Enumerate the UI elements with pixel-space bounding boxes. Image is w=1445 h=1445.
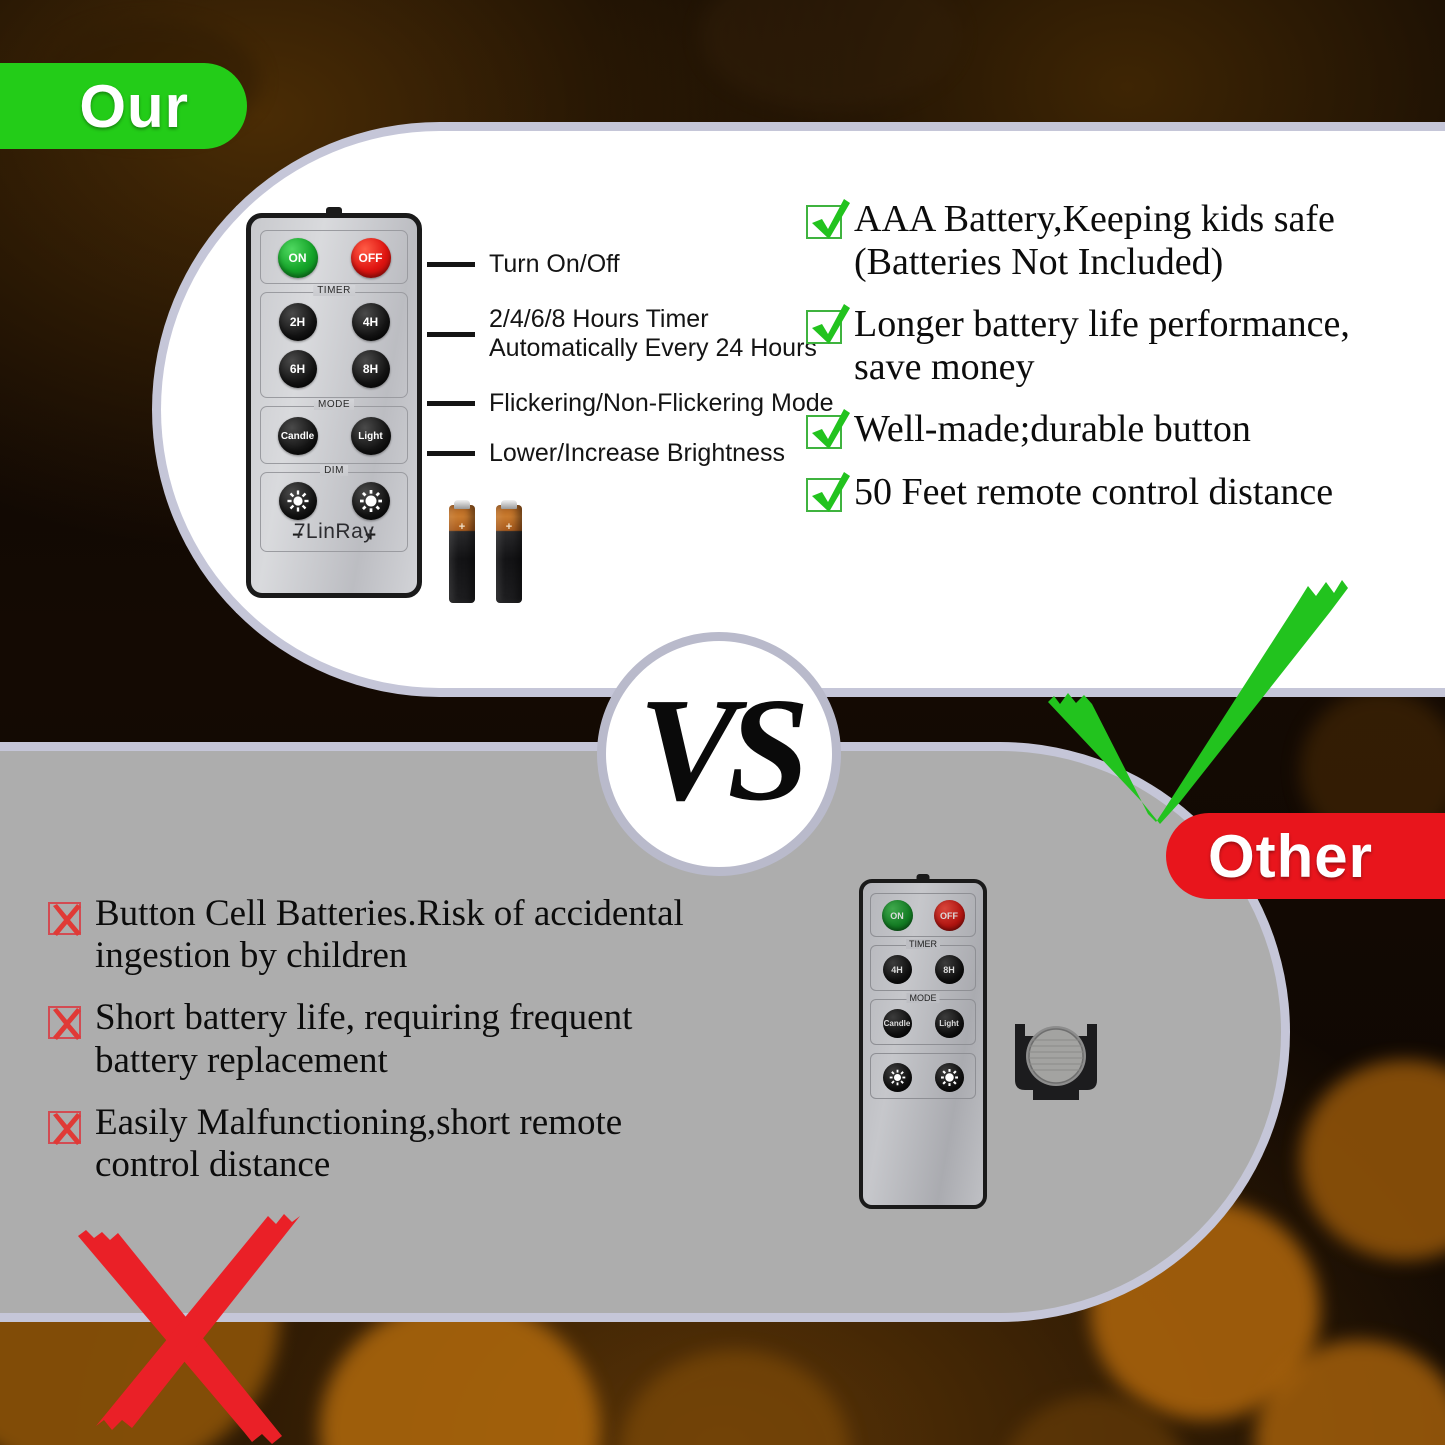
- other-remote-control: ON OFF TIMER 4H 8H MODE Candle Light: [859, 879, 987, 1209]
- feature-text: Well-made;durable button: [854, 408, 1251, 451]
- coin-cell-battery-holder: [1001, 1006, 1111, 1116]
- red-x-icon: [48, 1111, 85, 1148]
- checkbox-x-icon: [48, 902, 81, 935]
- feature-text: AAA Battery,Keeping kids safe (Batteries…: [854, 198, 1335, 283]
- our-badge-label: Our: [79, 72, 189, 141]
- off-button[interactable]: OFF: [351, 238, 391, 278]
- feature-item: AAA Battery,Keeping kids safe (Batteries…: [806, 198, 1431, 283]
- timer-6h-button[interactable]: 6H: [279, 350, 317, 388]
- dim-increase-button[interactable]: [352, 482, 390, 520]
- mode-button-group: MODE Candle Light: [260, 406, 408, 464]
- feature-text: 50 Feet remote control distance: [854, 471, 1333, 514]
- callout-timer: 2/4/6/8 Hours Timer Automatically Every …: [427, 305, 817, 364]
- sun-bright-icon: [360, 490, 382, 512]
- checkbox-checked-icon: [806, 478, 842, 512]
- feature-item: 50 Feet remote control distance: [806, 471, 1431, 514]
- ir-emitter-icon: [326, 207, 342, 214]
- dim-lower-button[interactable]: [279, 482, 317, 520]
- large-green-check-mark: [1030, 552, 1360, 852]
- timer-2h-button[interactable]: 2H: [279, 303, 317, 341]
- versus-label: VS: [638, 665, 799, 835]
- brush-check-icon: [1030, 552, 1360, 847]
- other-mode-group: MODE Candle Light: [870, 999, 976, 1045]
- callout-label: Lower/Increase Brightness: [489, 439, 785, 468]
- other-power-group: ON OFF: [870, 893, 976, 937]
- other-timer-group: TIMER 4H 8H: [870, 945, 976, 991]
- callout-leader-line: [427, 262, 475, 267]
- callout-turn-on-off: Turn On/Off: [427, 250, 620, 279]
- checkbox-checked-icon: [806, 205, 842, 239]
- battery-plus-label: +: [449, 521, 475, 533]
- button-cell-icon: [1001, 1006, 1111, 1116]
- sun-icon: [889, 1069, 906, 1086]
- other-dim-increase-button[interactable]: [935, 1063, 964, 1092]
- red-x-icon: [48, 902, 85, 939]
- mode-group-label: MODE: [314, 399, 354, 410]
- callout-label: Turn On/Off: [489, 250, 620, 279]
- remote-brand-label: 7LinRay: [251, 520, 417, 544]
- battery-plus-label: +: [496, 521, 522, 533]
- feature-text: Longer battery life performance, save mo…: [854, 303, 1350, 388]
- checkbox-checked-icon: [806, 310, 842, 344]
- brush-x-icon: [62, 1208, 362, 1445]
- timer-8h-button[interactable]: 8H: [352, 350, 390, 388]
- other-timer-4h-button[interactable]: 4H: [883, 955, 912, 984]
- timer-group-label: TIMER: [313, 285, 355, 296]
- drawback-text: Easily Malfunctioning,short remote contr…: [95, 1102, 622, 1186]
- other-on-button[interactable]: ON: [882, 900, 913, 931]
- callout-leader-line: [427, 401, 475, 406]
- other-timer-8h-button[interactable]: 8H: [935, 955, 964, 984]
- callout-brightness: Lower/Increase Brightness: [427, 439, 785, 468]
- our-badge: Our: [0, 63, 247, 149]
- other-drawback-list: Button Cell Batteries.Risk of accidental…: [48, 893, 768, 1206]
- our-remote-control: ON OFF TIMER 2H 4H 6H 8H MODE Candle Lig…: [246, 213, 422, 598]
- power-button-group: ON OFF: [260, 230, 408, 284]
- callout-leader-line: [427, 451, 475, 456]
- sun-icon: [287, 490, 309, 512]
- large-red-x-mark: [62, 1208, 362, 1445]
- dim-group-label: DIM: [320, 465, 348, 476]
- timer-4h-button[interactable]: 4H: [352, 303, 390, 341]
- callout-leader-line: [427, 332, 475, 337]
- drawback-text: Button Cell Batteries.Risk of accidental…: [95, 893, 684, 977]
- other-dim-lower-button[interactable]: [883, 1063, 912, 1092]
- checkbox-x-icon: [48, 1111, 81, 1144]
- drawback-text: Short battery life, requiring frequent b…: [95, 997, 632, 1081]
- sun-bright-icon: [941, 1069, 958, 1086]
- checkbox-checked-icon: [806, 415, 842, 449]
- aaa-battery-1: +: [449, 505, 475, 603]
- ir-emitter-icon: [917, 874, 930, 880]
- other-mode-group-label: MODE: [907, 993, 940, 1003]
- callout-label: 2/4/6/8 Hours Timer Automatically Every …: [489, 305, 817, 364]
- timer-button-group: TIMER 2H 4H 6H 8H: [260, 292, 408, 398]
- other-dim-group: [870, 1053, 976, 1099]
- other-timer-group-label: TIMER: [906, 939, 940, 949]
- our-feature-list: AAA Battery,Keeping kids safe (Batteries…: [806, 198, 1431, 533]
- drawback-item: Button Cell Batteries.Risk of accidental…: [48, 893, 768, 977]
- feature-item: Longer battery life performance, save mo…: [806, 303, 1431, 388]
- drawback-item: Easily Malfunctioning,short remote contr…: [48, 1102, 768, 1186]
- red-x-icon: [48, 1006, 85, 1043]
- comparison-infographic: ON OFF TIMER 2H 4H 6H 8H MODE Candle Lig…: [0, 0, 1445, 1445]
- light-mode-button[interactable]: Light: [351, 417, 391, 455]
- green-check-icon: [806, 195, 852, 247]
- other-candle-button[interactable]: Candle: [883, 1009, 912, 1038]
- drawback-item: Short battery life, requiring frequent b…: [48, 997, 768, 1081]
- green-check-icon: [806, 405, 852, 457]
- battery-cap-icon: [454, 500, 470, 509]
- callout-label: Flickering/Non-Flickering Mode: [489, 389, 834, 418]
- checkbox-x-icon: [48, 1006, 81, 1039]
- feature-item: Well-made;durable button: [806, 408, 1431, 451]
- green-check-icon: [806, 300, 852, 352]
- aaa-battery-2: +: [496, 505, 522, 603]
- battery-cap-icon: [501, 500, 517, 509]
- on-button[interactable]: ON: [278, 238, 318, 278]
- other-light-button[interactable]: Light: [935, 1009, 964, 1038]
- other-off-button[interactable]: OFF: [934, 900, 965, 931]
- green-check-icon: [806, 468, 852, 520]
- versus-badge: VS: [597, 632, 841, 876]
- candle-mode-button[interactable]: Candle: [278, 417, 318, 455]
- callout-mode: Flickering/Non-Flickering Mode: [427, 389, 834, 418]
